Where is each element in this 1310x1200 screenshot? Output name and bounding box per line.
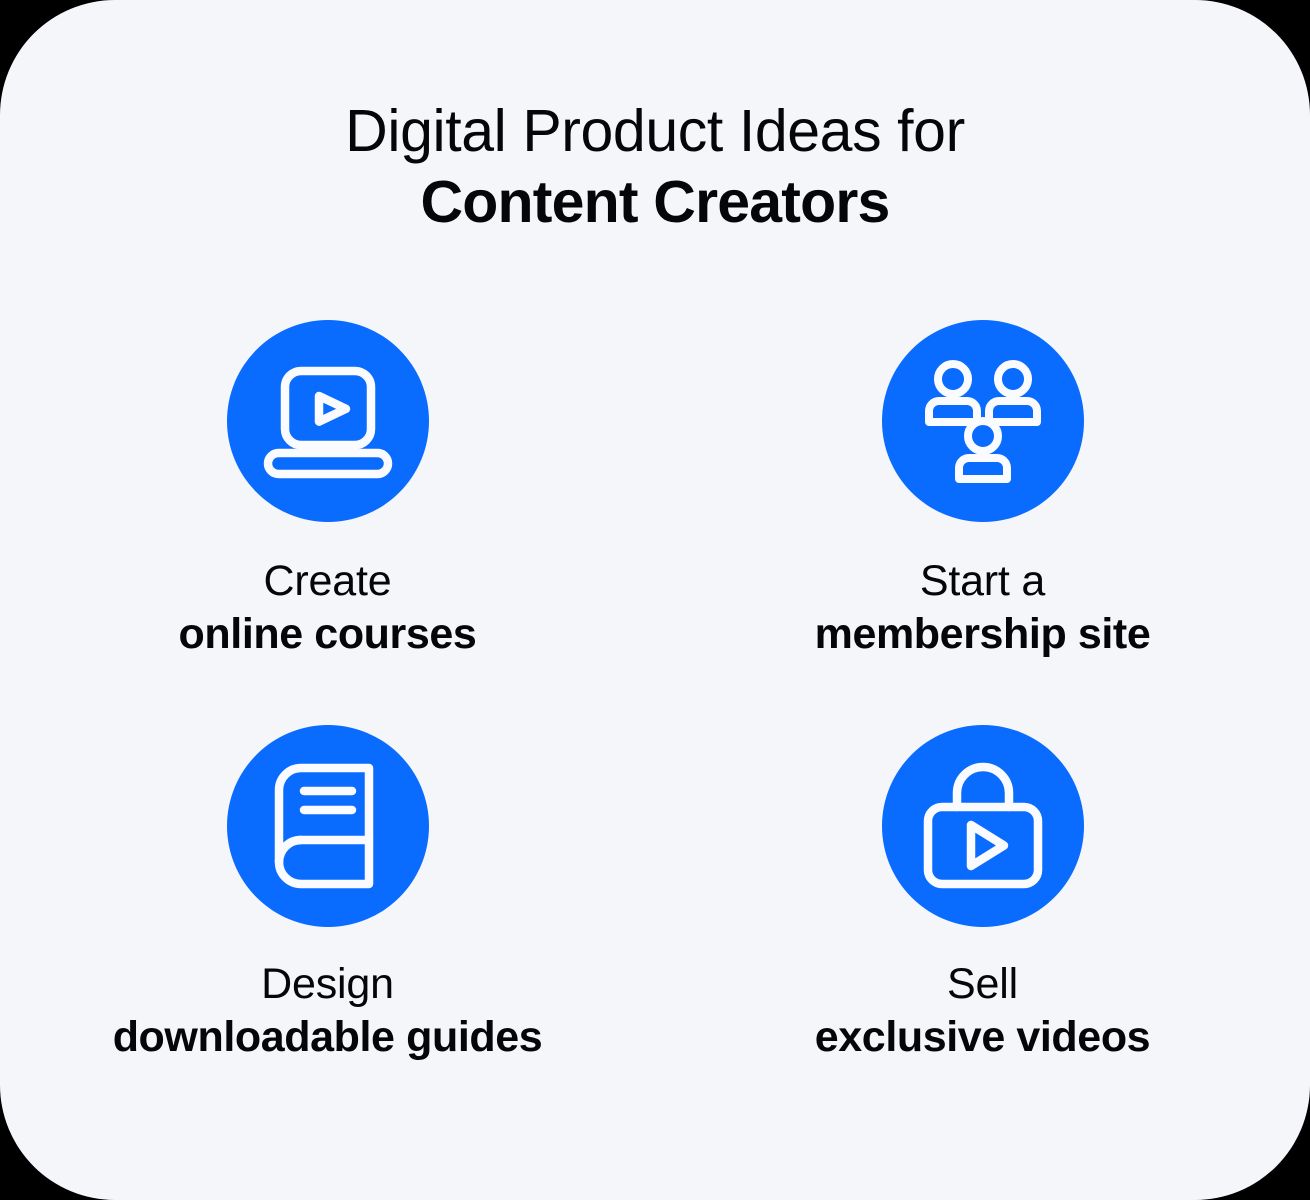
three-people-icon [919,357,1047,485]
icon-circle-downloadable-guides [227,725,429,927]
laptop-play-icon [263,363,393,479]
title-line-1: Digital Product Ideas for [0,96,1310,167]
icon-circle-membership-site [882,320,1084,522]
idea-item-online-courses: Create online courses [48,320,608,725]
idea-item-downloadable-guides: Design downloadable guides [48,725,608,1130]
idea-label-membership-site: Start a membership site [815,555,1151,662]
idea-label-top: Design [113,958,543,1011]
lock-play-icon [922,762,1044,890]
idea-label-exclusive-videos: Sell exclusive videos [815,958,1150,1065]
idea-label-bottom: membership site [815,608,1151,661]
idea-label-top: Sell [815,958,1150,1011]
idea-item-membership-site: Start a membership site [703,320,1263,725]
infographic-card: Digital Product Ideas for Content Creato… [0,0,1310,1200]
idea-label-online-courses: Create online courses [179,555,477,662]
idea-label-top: Create [179,555,477,608]
idea-label-bottom: downloadable guides [113,1011,543,1064]
title-line-2: Content Creators [0,167,1310,238]
idea-label-bottom: online courses [179,608,477,661]
page-title: Digital Product Ideas for Content Creato… [0,96,1310,239]
idea-label-top: Start a [815,555,1151,608]
idea-label-bottom: exclusive videos [815,1011,1150,1064]
idea-grid: Create online courses [0,320,1310,1130]
idea-label-downloadable-guides: Design downloadable guides [113,958,543,1065]
idea-item-exclusive-videos: Sell exclusive videos [703,725,1263,1130]
icon-circle-online-courses [227,320,429,522]
icon-circle-exclusive-videos [882,725,1084,927]
book-icon [273,762,383,890]
